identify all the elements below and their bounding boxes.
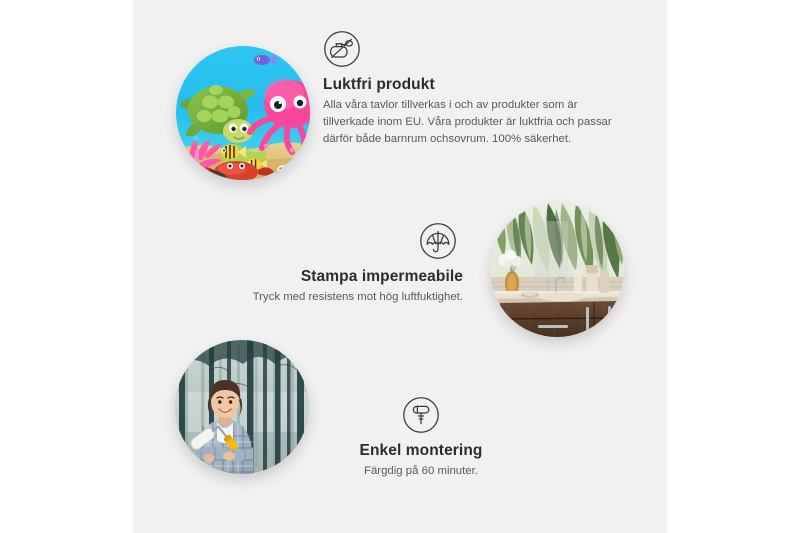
umbrella-icon	[419, 222, 457, 260]
feature-easy-mounting: Enkel montering Färgdig på 60 minuter.	[311, 396, 531, 480]
feature-title: Luktfri produkt	[323, 75, 628, 94]
feature-odor-free: Luktfri produkt Alla våra tavlor tillver…	[323, 30, 628, 148]
feature-body: Färgdig på 60 minuter.	[311, 463, 531, 480]
feature-body: Tryck med resistens mot hög luftfuktighe…	[208, 289, 463, 306]
underwater-kids-illustration	[176, 46, 310, 180]
woman-with-paint-roller-forest	[175, 340, 309, 474]
feature-title: Stampa impermeabile	[208, 267, 463, 286]
content-panel: Luktfri produkt Alla våra tavlor tillver…	[133, 0, 667, 533]
feature-body: Alla våra tavlor tillverkas i och av pro…	[323, 97, 628, 147]
feature-waterproof-print: Stampa impermeabile Tryck med resistens …	[208, 222, 463, 306]
bathroom-leaf-wallpaper	[490, 203, 624, 337]
feature-title: Enkel montering	[311, 441, 531, 460]
promo-infographic: Luktfri produkt Alla våra tavlor tillver…	[0, 0, 800, 533]
no-perfume-icon	[323, 30, 361, 68]
paint-roller-icon	[402, 396, 440, 434]
